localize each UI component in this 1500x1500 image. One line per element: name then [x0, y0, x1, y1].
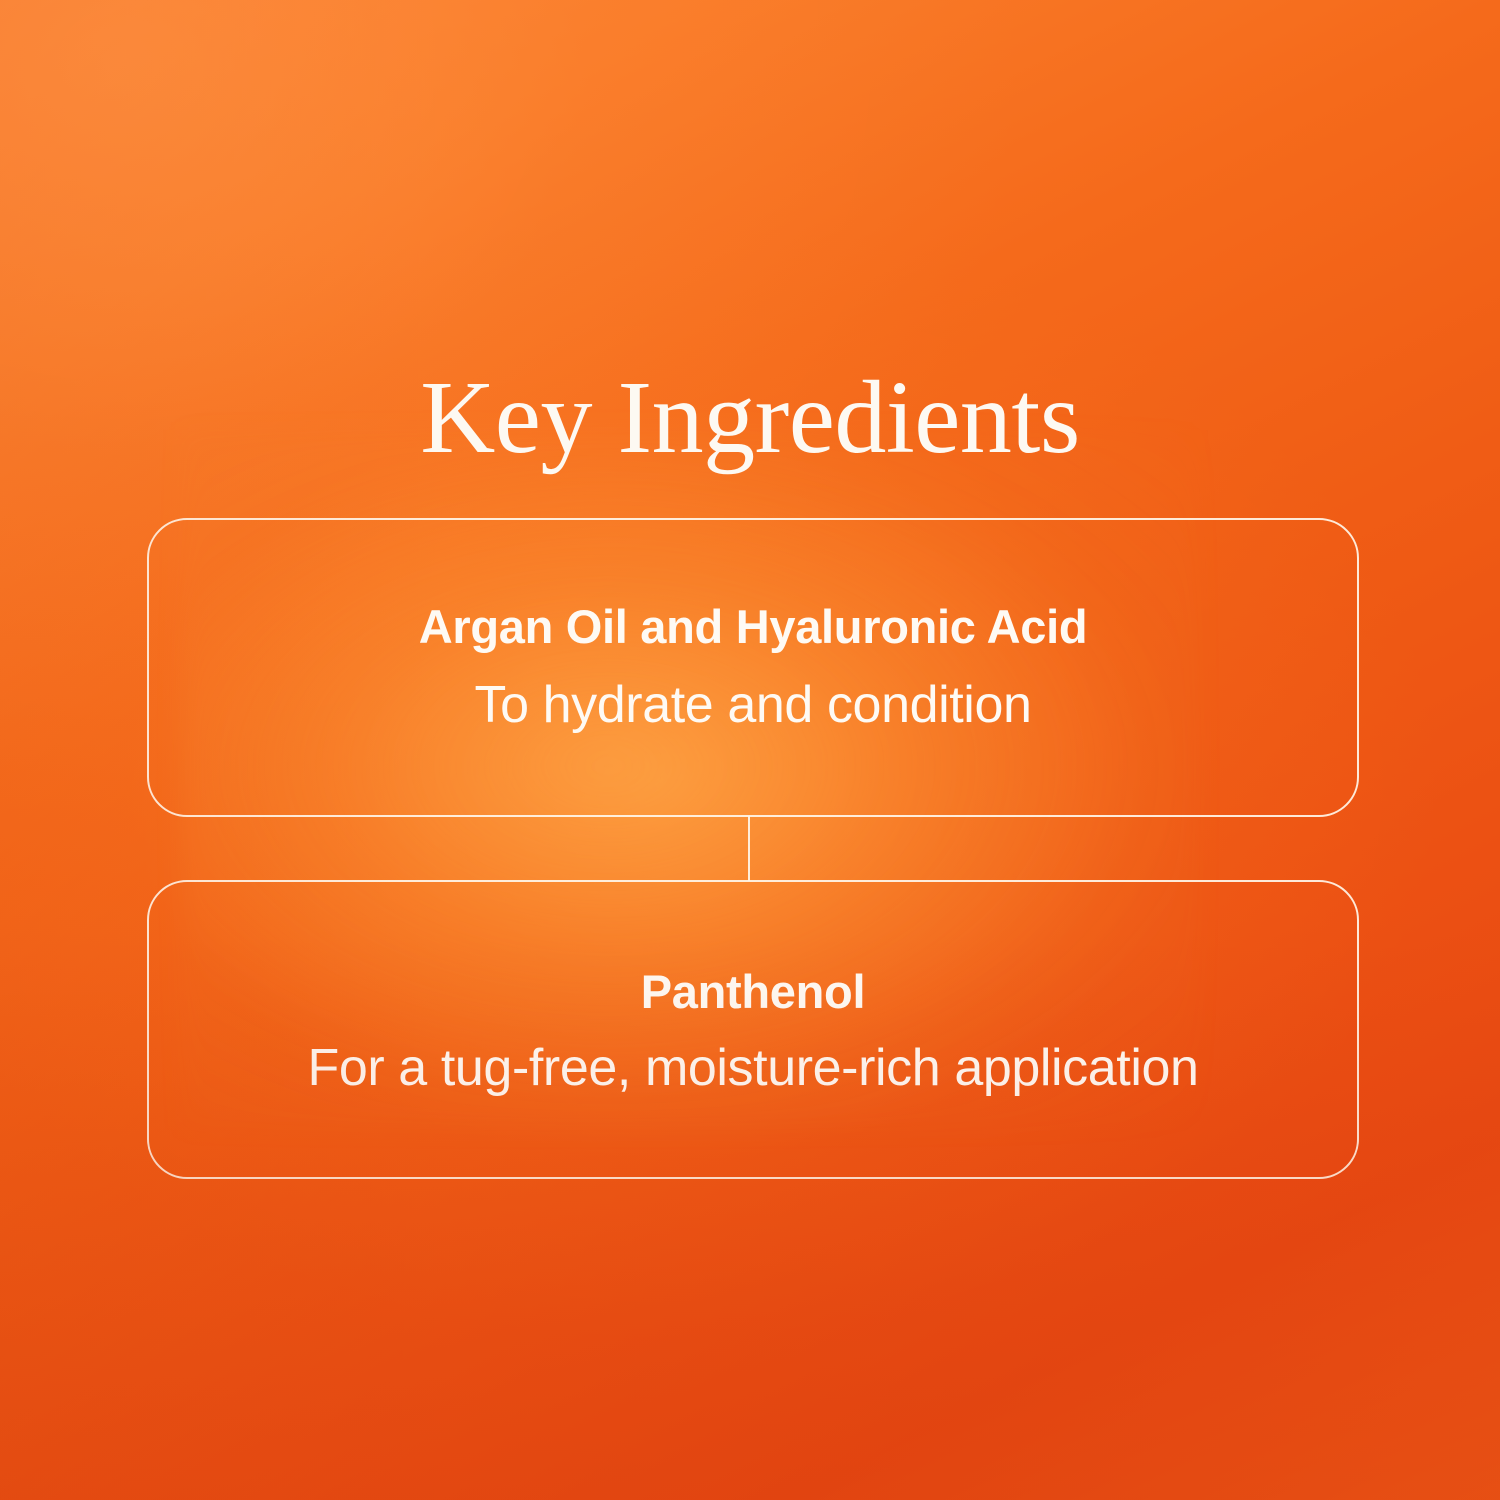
ingredient-card-1-heading: Argan Oil and Hyaluronic Acid: [419, 601, 1088, 653]
ingredient-card-1: Argan Oil and Hyaluronic Acid To hydrate…: [147, 518, 1359, 817]
page-title: Key Ingredients: [0, 366, 1500, 470]
ingredient-card-2-subtext: For a tug-free, moisture-rich applicatio…: [307, 1039, 1198, 1099]
connector-line-icon: [748, 816, 750, 881]
ingredients-infographic: Key Ingredients Argan Oil and Hyaluronic…: [0, 0, 1500, 1500]
ingredient-card-1-subtext: To hydrate and condition: [474, 676, 1031, 736]
ingredient-card-2: Panthenol For a tug-free, moisture-rich …: [147, 880, 1359, 1179]
ingredient-card-2-heading: Panthenol: [641, 966, 865, 1018]
